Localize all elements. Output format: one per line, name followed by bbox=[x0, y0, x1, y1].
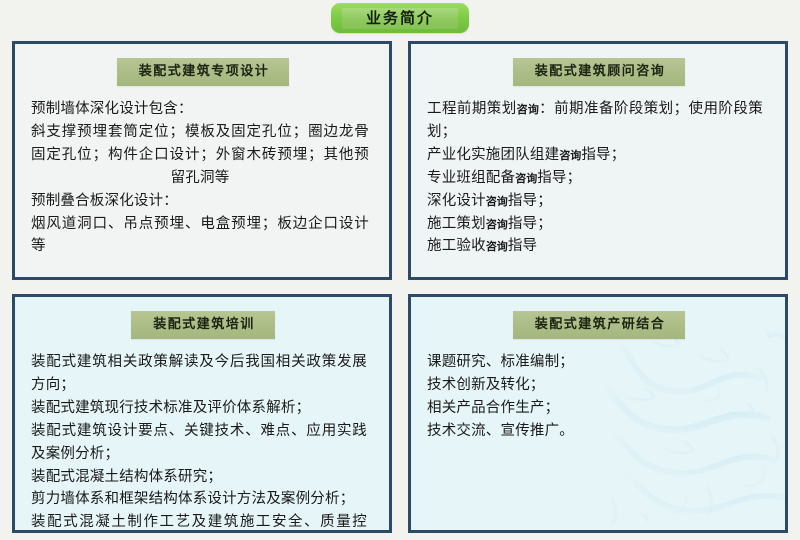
header-banner-container: 业务简介 bbox=[0, 2, 800, 34]
text-line: 施工策划咨询指导； bbox=[427, 213, 763, 236]
panel-training: 装配式建筑培训 装配式建筑相关政策解读及今后我国相关政策发展方向； 装配式建筑现… bbox=[12, 294, 392, 533]
panel-research: 装配式建筑产研结合 课题研究、标准编制； 技术创新及转化； 相关产品合作生产； … bbox=[408, 294, 788, 533]
text-line: 烟风道洞口、吊点预埋、电盒预埋；板边企口设计等 bbox=[31, 213, 369, 259]
text-line: 斜支撑预埋套筒定位；模板及固定孔位；圈边龙骨固定孔位；构件企口设计；外窗木砖预埋… bbox=[31, 121, 369, 190]
text-line: 工程前期策划咨询：前期准备阶段策划；使用阶段策划； bbox=[427, 98, 763, 144]
text-tail: 指导； bbox=[508, 216, 552, 232]
text-annotation: 咨询 bbox=[486, 218, 508, 231]
text-main: 施工验收 bbox=[427, 238, 486, 254]
text-line: 装配式混凝土制作工艺及建筑施工安全、质量控制； bbox=[31, 511, 367, 533]
text-line: 装配式建筑现行技术标准及评价体系解析； bbox=[31, 397, 367, 420]
text-line: 装配式建筑相关政策解读及今后我国相关政策发展方向； bbox=[31, 351, 367, 397]
text-main: 深化设计 bbox=[427, 193, 486, 209]
panel-special-design-text: 预制墙体深化设计包含： 斜支撑预埋套筒定位；模板及固定孔位；圈边龙骨固定孔位；构… bbox=[31, 98, 375, 258]
panel-special-design-title-row: 装配式建筑专项设计 bbox=[31, 58, 375, 86]
text-main: 施工策划 bbox=[427, 216, 486, 232]
text-line: 深化设计咨询指导； bbox=[427, 190, 763, 213]
text-tail: 指导； bbox=[537, 170, 581, 186]
text-tail: 指导； bbox=[581, 147, 625, 163]
text-line: 施工验收咨询指导 bbox=[427, 235, 763, 258]
panel-grid: 装配式建筑专项设计 预制墙体深化设计包含： 斜支撑预埋套筒定位；模板及固定孔位；… bbox=[12, 41, 788, 533]
text-annotation: 咨询 bbox=[486, 195, 508, 208]
text-line: 相关产品合作生产； bbox=[427, 397, 763, 420]
panel-special-design-title: 装配式建筑专项设计 bbox=[117, 58, 290, 86]
header-banner: 业务简介 bbox=[331, 3, 469, 33]
panel-research-title: 装配式建筑产研结合 bbox=[513, 311, 686, 339]
panel-consulting-title-row: 装配式建筑顾问咨询 bbox=[427, 58, 771, 86]
panel-special-design: 装配式建筑专项设计 预制墙体深化设计包含： 斜支撑预埋套筒定位；模板及固定孔位；… bbox=[12, 41, 392, 280]
panel-training-title-row: 装配式建筑培训 bbox=[31, 311, 375, 339]
text-main: 产业化实施团队组建 bbox=[427, 147, 559, 163]
text-annotation: 咨询 bbox=[515, 172, 537, 185]
panel-research-text: 课题研究、标准编制； 技术创新及转化； 相关产品合作生产； 技术交流、宣传推广。 bbox=[427, 351, 771, 443]
text-annotation: 咨询 bbox=[517, 103, 539, 116]
panel-training-body: 装配式建筑培训 装配式建筑相关政策解读及今后我国相关政策发展方向； 装配式建筑现… bbox=[15, 297, 389, 530]
text-main: 专业班组配备 bbox=[427, 170, 515, 186]
page-root: 业务简介 装配式建筑专项设计 预制墙体深化设计包含： 斜支撑预埋套筒定位；模板及… bbox=[0, 0, 800, 540]
text-line: 预制叠合板深化设计： bbox=[31, 190, 369, 213]
panel-research-body: 装配式建筑产研结合 课题研究、标准编制； 技术创新及转化； 相关产品合作生产； … bbox=[411, 297, 785, 530]
text-tail: 指导 bbox=[508, 238, 537, 254]
text-main: 工程前期策划 bbox=[427, 101, 517, 117]
panel-special-design-body: 装配式建筑专项设计 预制墙体深化设计包含： 斜支撑预埋套筒定位；模板及固定孔位；… bbox=[15, 44, 389, 277]
panel-consulting-title: 装配式建筑顾问咨询 bbox=[513, 58, 686, 86]
text-line: 装配式建筑设计要点、关键技术、难点、应用实践及案例分析； bbox=[31, 420, 367, 466]
panel-training-text: 装配式建筑相关政策解读及今后我国相关政策发展方向； 装配式建筑现行技术标准及评价… bbox=[31, 351, 375, 533]
text-line: 专业班组配备咨询指导； bbox=[427, 167, 763, 190]
text-line: 技术创新及转化； bbox=[427, 374, 763, 397]
page-title: 业务简介 bbox=[366, 11, 434, 26]
text-annotation: 咨询 bbox=[486, 240, 508, 253]
text-line: 课题研究、标准编制； bbox=[427, 351, 763, 374]
panel-training-title: 装配式建筑培训 bbox=[131, 311, 275, 339]
text-line: 预制墙体深化设计包含： bbox=[31, 98, 369, 121]
text-line: 装配式混凝土结构体系研究； bbox=[31, 466, 367, 489]
text-line: 技术交流、宣传推广。 bbox=[427, 420, 763, 443]
panel-research-title-row: 装配式建筑产研结合 bbox=[427, 311, 771, 339]
text-line: 产业化实施团队组建咨询指导； bbox=[427, 144, 763, 167]
header-banner-inner: 业务简介 bbox=[342, 8, 458, 29]
text-annotation: 咨询 bbox=[559, 149, 581, 162]
panel-consulting: 装配式建筑顾问咨询 工程前期策划咨询：前期准备阶段策划；使用阶段策划； 产业化实… bbox=[408, 41, 788, 280]
panel-consulting-text: 工程前期策划咨询：前期准备阶段策划；使用阶段策划； 产业化实施团队组建咨询指导；… bbox=[427, 98, 771, 258]
text-tail: 指导； bbox=[508, 193, 552, 209]
text-line: 剪力墙体系和框架结构体系设计方法及案例分析； bbox=[31, 488, 367, 511]
panel-consulting-body: 装配式建筑顾问咨询 工程前期策划咨询：前期准备阶段策划；使用阶段策划； 产业化实… bbox=[411, 44, 785, 277]
